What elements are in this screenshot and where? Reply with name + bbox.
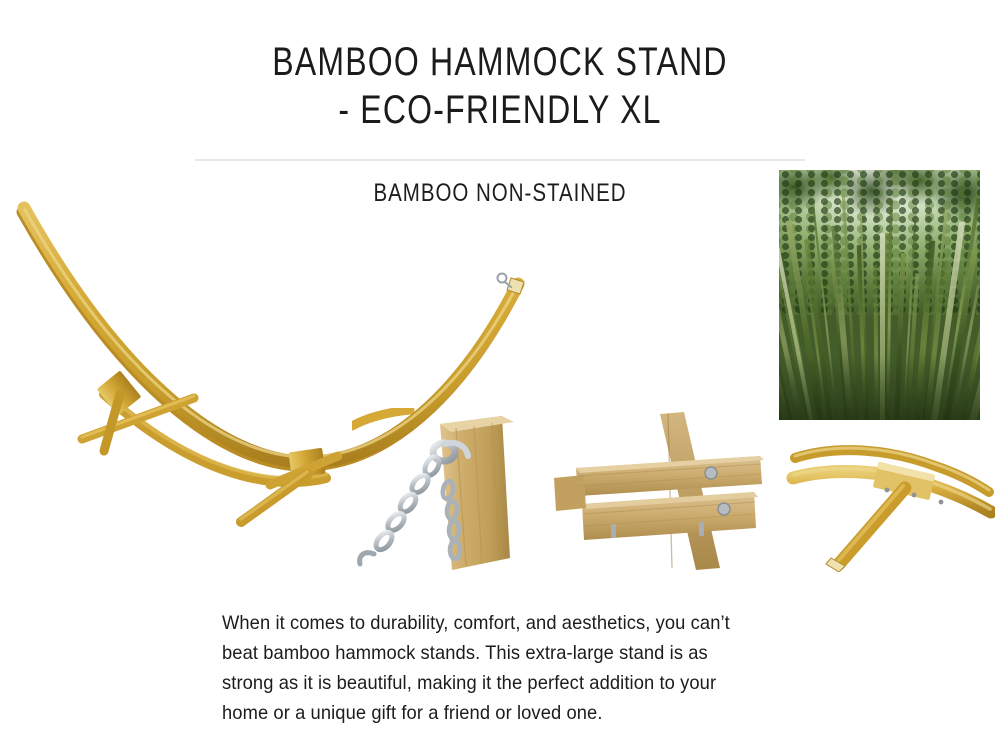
grove-forest-floor <box>779 355 980 420</box>
header-divider <box>195 159 805 161</box>
bamboo-grove-photo <box>779 170 980 420</box>
chain-hardware-detail-photo <box>352 408 542 570</box>
page-title: BAMBOO HAMMOCK STAND - ECO-FRIENDLY XL <box>100 38 900 134</box>
page-title-line-2: - ECO-FRIENDLY XL <box>100 86 900 134</box>
arc-support-leg-detail-photo <box>783 432 995 572</box>
product-description: When it comes to durability, comfort, an… <box>222 608 754 728</box>
product-marketing-page: BAMBOO HAMMOCK STAND - ECO-FRIENDLY XL B… <box>0 0 1000 745</box>
eye-hook-icon <box>498 274 512 288</box>
page-title-line-1: BAMBOO HAMMOCK STAND <box>100 38 900 86</box>
bolted-joinery-detail-photo <box>548 412 784 570</box>
